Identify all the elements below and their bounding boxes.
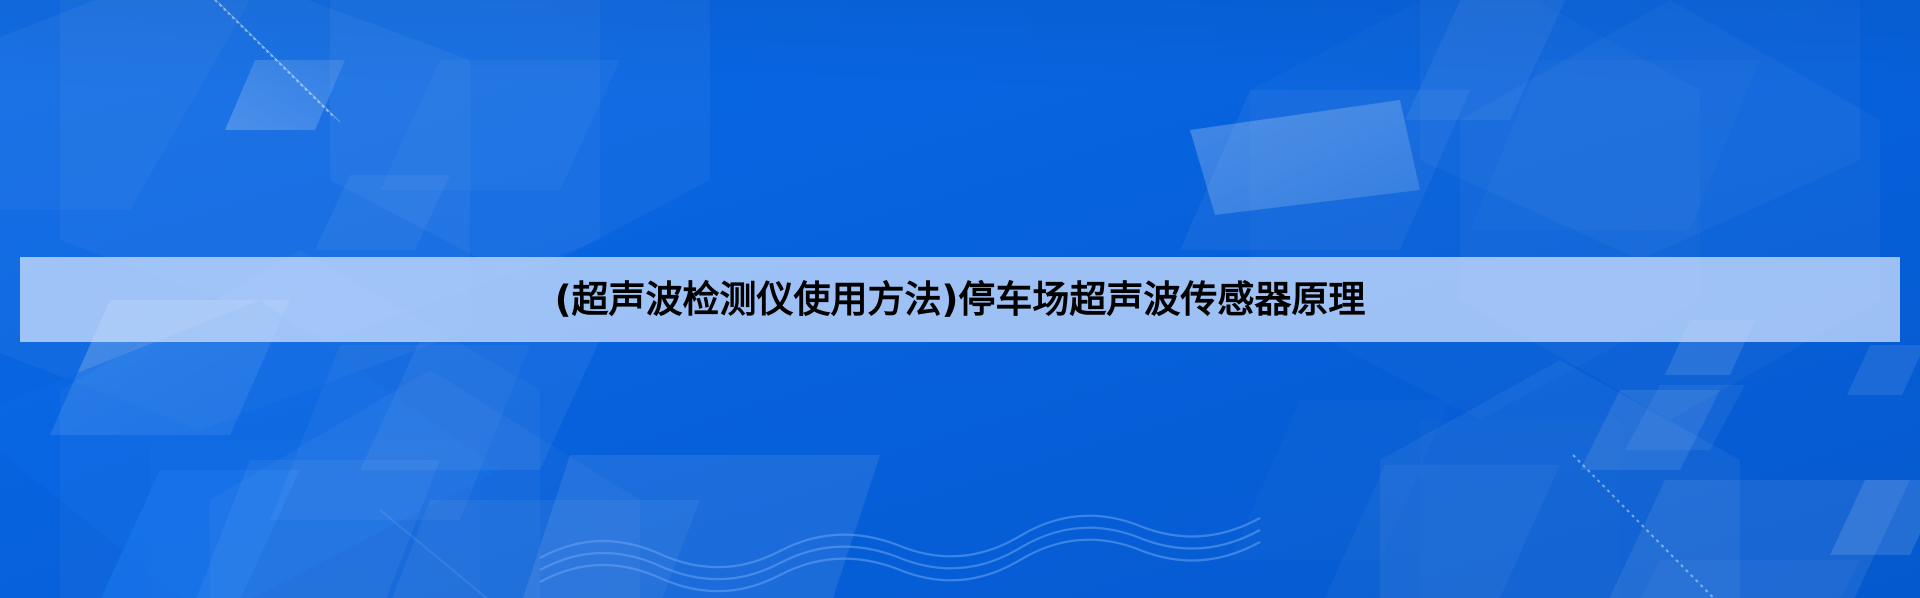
page-title: (超声波检测仪使用方法)停车场超声波传感器原理	[555, 281, 1366, 318]
banner-canvas: (超声波检测仪使用方法)停车场超声波传感器原理	[0, 0, 1920, 598]
title-bar: (超声波检测仪使用方法)停车场超声波传感器原理	[20, 257, 1900, 342]
